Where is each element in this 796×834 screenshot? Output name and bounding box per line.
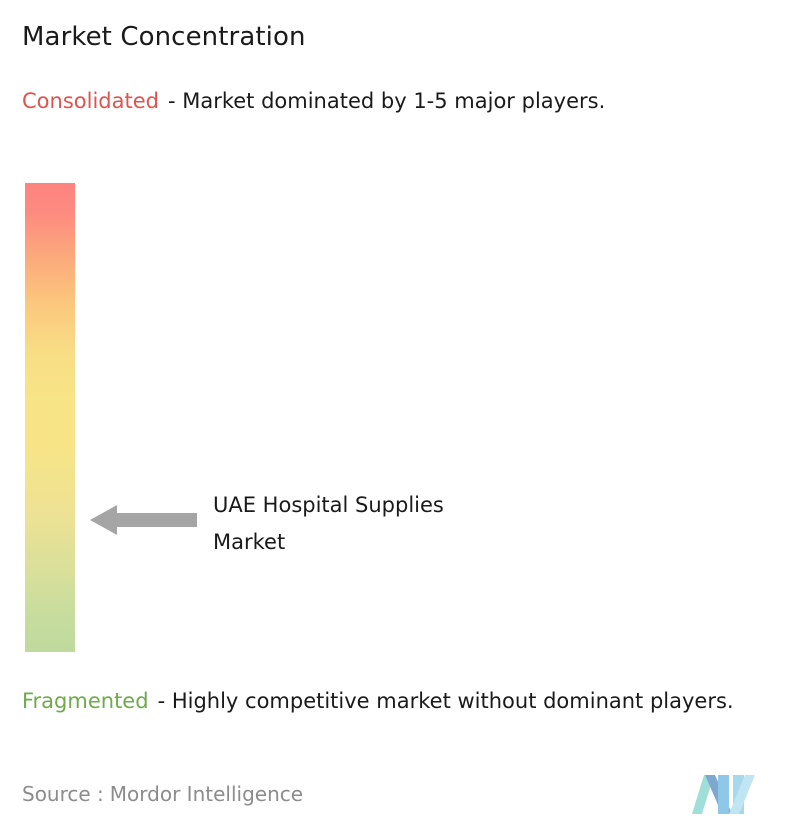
market-pointer-label: UAE Hospital Supplies Market xyxy=(213,487,613,561)
fragmented-keyword: Fragmented xyxy=(22,689,149,713)
market-pointer-label-line1: UAE Hospital Supplies xyxy=(213,487,613,524)
consolidated-caption: Consolidated- Market dominated by 1-5 ma… xyxy=(22,86,762,117)
fragmented-description: - Highly competitive market without domi… xyxy=(158,689,734,713)
source-label: Source : xyxy=(22,782,104,806)
mordor-intelligence-logo xyxy=(692,774,756,816)
consolidated-keyword: Consolidated xyxy=(22,89,159,113)
fragmented-caption: Fragmented- Highly competitive market wi… xyxy=(22,686,792,717)
consolidated-description: - Market dominated by 1-5 major players. xyxy=(168,89,605,113)
market-pointer-group: UAE Hospital Supplies Market xyxy=(90,487,690,557)
market-concentration-gradient-bar xyxy=(25,183,75,652)
page-title: Market Concentration xyxy=(22,22,306,52)
source-attribution: Source :Mordor Intelligence xyxy=(22,782,303,806)
arrow-left-icon xyxy=(90,503,197,537)
market-pointer-label-line2: Market xyxy=(213,524,613,561)
source-value: Mordor Intelligence xyxy=(110,782,303,806)
market-concentration-infographic: { "title": "Market Concentration", "top_… xyxy=(0,0,796,834)
